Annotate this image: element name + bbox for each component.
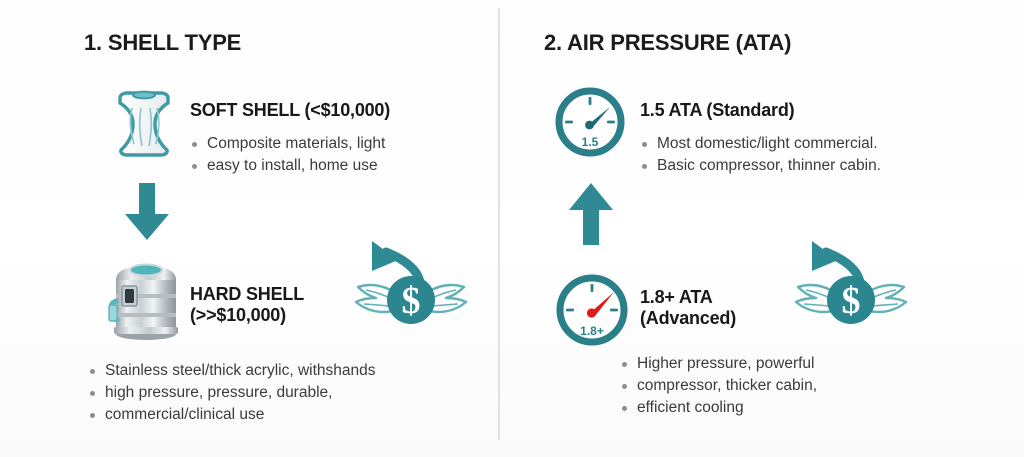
winged-dollar-coin-icon: $ [352, 238, 470, 338]
ata-advanced-text-block: 1.8+ ATA (Advanced) [640, 287, 736, 329]
up-arrow-icon [566, 182, 616, 246]
column-shell-type: 1. SHELL TYPE SOFT S [0, 0, 498, 457]
svg-text:$: $ [402, 280, 421, 322]
list-item: Higher pressure, powerful [620, 353, 817, 375]
list-item-cont: commercial/clinical use [88, 404, 376, 426]
list-item-cont: high pressure, pressure, durable, [88, 382, 376, 404]
ata-advanced-bullets: Higher pressure, powerful compressor, th… [620, 353, 817, 419]
svg-text:$: $ [842, 280, 861, 322]
column-title-shell-type: 1. SHELL TYPE [84, 30, 241, 56]
list-item-cont: efficient cooling [620, 397, 817, 419]
down-arrow-icon [124, 183, 170, 241]
hard-shell-bullets-block: Stainless steel/thick acrylic, withshand… [88, 360, 376, 426]
list-item: Stainless steel/thick acrylic, withshand… [88, 360, 376, 382]
ata-standard-heading: 1.5 ATA (Standard) [640, 100, 881, 121]
hard-shell-heading-line1: HARD SHELL [190, 284, 304, 305]
hard-shell-bullets: Stainless steel/thick acrylic, withshand… [88, 360, 376, 426]
ata-standard-bullets: Most domestic/light commercial. Basic co… [640, 133, 881, 177]
hard-shell-text-block: HARD SHELL (>>$10,000) [190, 284, 304, 326]
gauge-label: 1.8+ [580, 324, 604, 338]
ata-standard-text-block: 1.5 ATA (Standard) Most domestic/light c… [640, 100, 881, 177]
list-item: Most domestic/light commercial. [640, 133, 881, 155]
winged-dollar-coin-icon: $ [792, 238, 910, 338]
ata-advanced-heading-line1: 1.8+ ATA [640, 287, 736, 308]
ata-advanced-heading-line2: (Advanced) [640, 308, 736, 329]
pressure-gauge-icon: 1.5 [552, 84, 628, 160]
list-item-cont: compressor, thicker cabin, [620, 375, 817, 397]
pressure-gauge-icon: 1.8+ [552, 270, 632, 350]
hard-shell-heading-line2: (>>$10,000) [190, 305, 304, 326]
list-item-cont: Basic compressor, thinner cabin. [640, 155, 881, 177]
column-air-pressure: 2. AIR PRESSURE (ATA) 1.5 1.5 ATA (Stand… [500, 0, 1024, 457]
soft-shell-text-block: SOFT SHELL (<$10,000) Composite material… [190, 100, 390, 177]
soft-shell-heading: SOFT SHELL (<$10,000) [190, 100, 390, 121]
infographic-board: 1. SHELL TYPE SOFT S [0, 0, 1024, 457]
gauge-label: 1.5 [582, 135, 599, 149]
list-item: Composite materials, light [190, 133, 390, 155]
list-item-cont: easy to install, home use [190, 155, 390, 177]
ata-advanced-bullets-block: Higher pressure, powerful compressor, th… [620, 353, 817, 419]
soft-shell-bullets: Composite materials, light easy to insta… [190, 133, 390, 177]
hard-shell-chamber-icon [106, 256, 186, 342]
column-title-air-pressure: 2. AIR PRESSURE (ATA) [544, 30, 791, 56]
soft-shell-chamber-icon [104, 84, 184, 164]
